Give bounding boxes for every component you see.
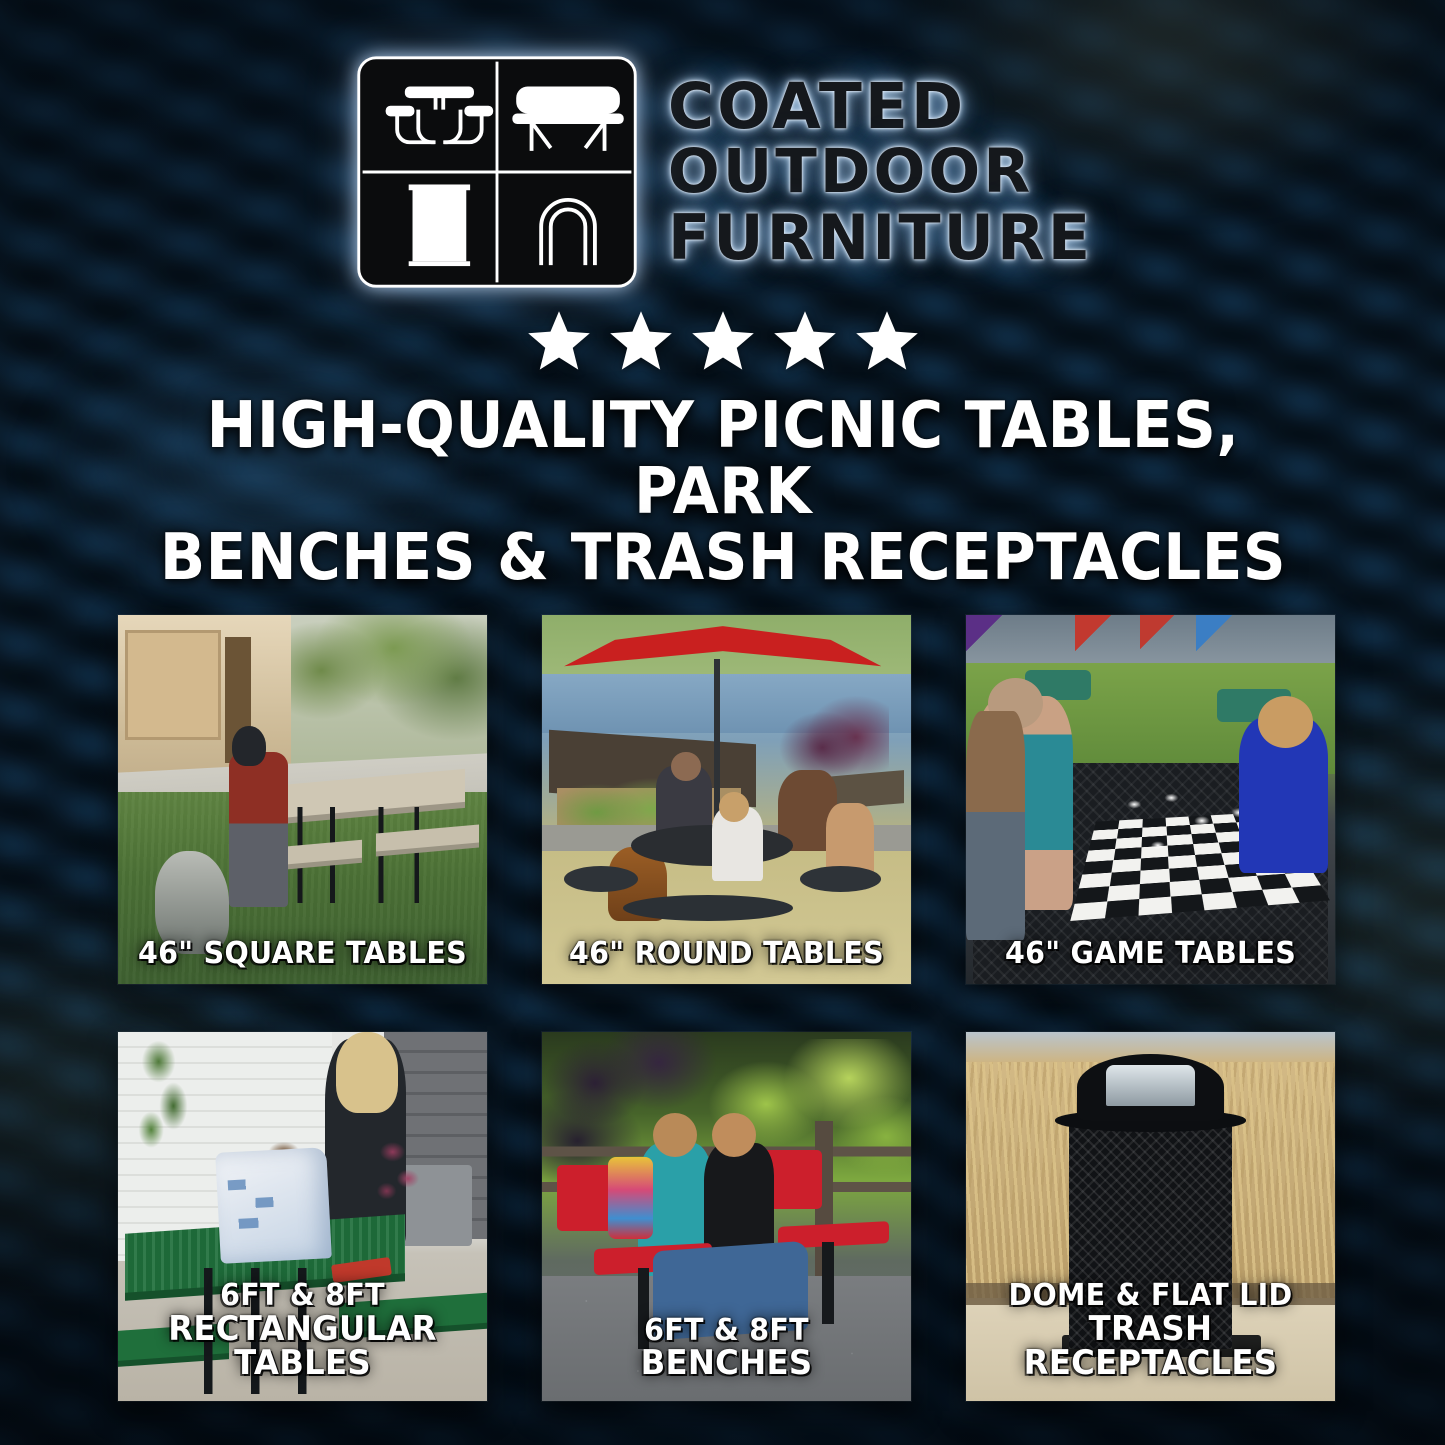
product-grid: 46" SQUARE TABLES 46" ROUND TABLES bbox=[118, 615, 1333, 1401]
caption-line-1: 6FT & 8FT bbox=[220, 1278, 385, 1313]
headline-line-2: BENCHES & TRASH RECEPTACLES bbox=[137, 526, 1309, 592]
caption-line-2: RECTANGULAR TABLES bbox=[135, 1312, 470, 1381]
product-tile-game-tables[interactable]: 46" GAME TABLES bbox=[966, 615, 1335, 984]
caption-line-2: BENCHES bbox=[559, 1346, 894, 1381]
wordmark: COATED OUTDOOR FURNITURE bbox=[668, 75, 1093, 269]
product-caption: 46" GAME TABLES bbox=[975, 939, 1326, 984]
product-tile-square-tables[interactable]: 46" SQUARE TABLES bbox=[118, 615, 487, 984]
product-caption: DOME & FLAT LID TRASH RECEPTACLES bbox=[975, 1281, 1326, 1395]
star-rating bbox=[526, 308, 920, 374]
star-icon bbox=[690, 308, 756, 374]
trash-receptacle-icon bbox=[409, 184, 470, 266]
caption-line-1: 46" SQUARE TABLES bbox=[138, 936, 467, 971]
product-tile-round-tables[interactable]: 46" ROUND TABLES bbox=[542, 615, 911, 984]
star-icon bbox=[608, 308, 674, 374]
poster-canvas: COATED OUTDOOR FURNITURE HIGH-QUALITY PI… bbox=[0, 0, 1445, 1445]
wordmark-line-outdoor: OUTDOOR bbox=[668, 141, 1033, 203]
star-icon bbox=[526, 308, 592, 374]
product-caption: 6FT & 8FT BENCHES bbox=[551, 1316, 902, 1395]
product-tile-rectangular-tables[interactable]: 6FT & 8FT RECTANGULAR TABLES bbox=[118, 1032, 487, 1401]
product-caption: 46" ROUND TABLES bbox=[551, 939, 902, 984]
product-caption: 46" SQUARE TABLES bbox=[127, 939, 478, 984]
caption-line-2: TRASH RECEPTACLES bbox=[983, 1312, 1318, 1381]
product-photo-round-tables bbox=[542, 615, 911, 984]
product-caption: 6FT & 8FT RECTANGULAR TABLES bbox=[127, 1281, 478, 1395]
header: COATED OUTDOOR FURNITURE HIGH-QUALITY PI… bbox=[0, 52, 1445, 592]
product-tile-benches[interactable]: 6FT & 8FT BENCHES bbox=[542, 1032, 911, 1401]
wordmark-line-coated: COATED bbox=[668, 75, 966, 139]
star-icon bbox=[772, 308, 838, 374]
caption-line-1: DOME & FLAT LID bbox=[1009, 1278, 1293, 1313]
coated-outdoor-furniture-logo bbox=[352, 52, 642, 292]
wordmark-line-furniture: FURNITURE bbox=[668, 206, 1093, 269]
caption-line-1: 6FT & 8FT bbox=[644, 1313, 809, 1348]
caption-line-1: 46" ROUND TABLES bbox=[569, 936, 884, 971]
caption-line-1: 46" GAME TABLES bbox=[1005, 936, 1296, 971]
product-photo-game-tables bbox=[966, 615, 1335, 984]
star-icon bbox=[854, 308, 920, 374]
brand-lockup: COATED OUTDOOR FURNITURE bbox=[352, 52, 1093, 292]
product-photo-square-tables bbox=[118, 615, 487, 984]
headline-line-1: HIGH-QUALITY PICNIC TABLES, PARK bbox=[206, 389, 1239, 529]
product-tile-trash-receptacles[interactable]: DOME & FLAT LID TRASH RECEPTACLES bbox=[966, 1032, 1335, 1401]
page-title: HIGH-QUALITY PICNIC TABLES, PARK BENCHES… bbox=[137, 394, 1309, 592]
